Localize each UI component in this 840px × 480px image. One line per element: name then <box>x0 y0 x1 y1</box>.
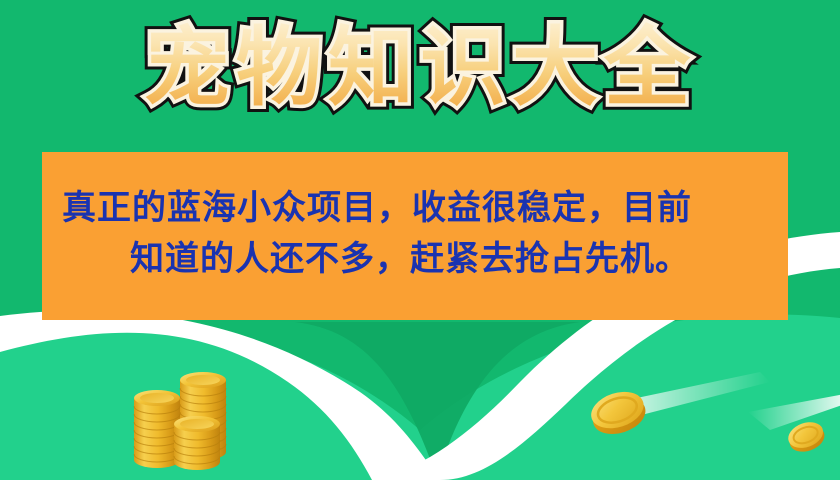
coin-stack-left <box>134 390 180 468</box>
promo-poster: 宠物知识大全 宠物知识大全 宠物知识大全 真正的蓝海小众项目，收益很稳定，目前 … <box>0 0 840 480</box>
title-gradient-fill: 宠物知识大全 <box>144 18 696 118</box>
message-box: 真正的蓝海小众项目，收益很稳定，目前 知道的人还不多，赶紧去抢占先机。 <box>42 152 788 320</box>
message-line-1: 真正的蓝海小众项目，收益很稳定，目前 <box>58 183 772 234</box>
message-line-2: 知道的人还不多，赶紧去抢占先机。 <box>58 234 772 285</box>
flying-coin-icon <box>586 386 650 438</box>
flying-coin-icon <box>744 406 840 462</box>
coin-stack-front-right <box>174 416 220 470</box>
poster-title: 宠物知识大全 宠物知识大全 宠物知识大全 <box>0 8 840 128</box>
coin-stack-icon <box>128 362 238 474</box>
title-text-stack: 宠物知识大全 宠物知识大全 宠物知识大全 <box>144 25 696 111</box>
